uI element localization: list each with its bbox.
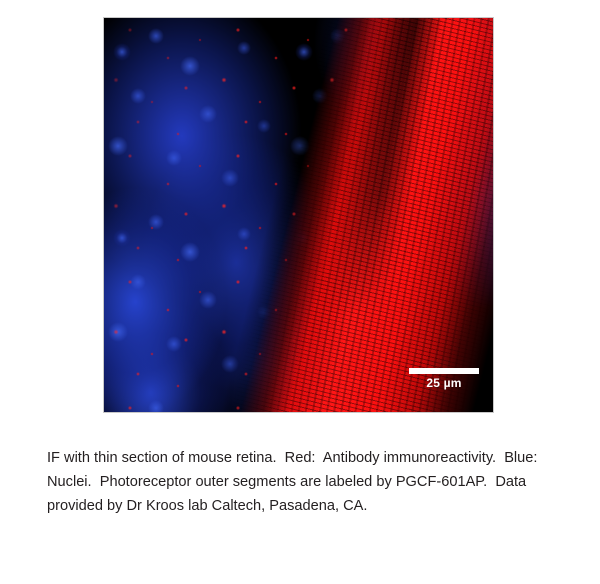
outer-segment-striation-layer-secondary bbox=[104, 18, 493, 412]
band-split-shadow-layer bbox=[104, 18, 493, 412]
figure-caption: IF with thin section of mouse retina. Re… bbox=[47, 446, 557, 518]
red-photoreceptor-band-layer bbox=[104, 18, 493, 412]
blue-nuclei-layer bbox=[104, 18, 493, 412]
vignette-layer bbox=[104, 18, 493, 412]
immunofluorescence-figure: 25 µm bbox=[103, 17, 494, 413]
scale-bar-label: 25 µm bbox=[407, 376, 481, 390]
red-puncta-layer bbox=[104, 18, 493, 412]
micrograph-image: 25 µm bbox=[103, 17, 494, 413]
scale-bar: 25 µm bbox=[407, 368, 481, 390]
outer-segment-striation-layer bbox=[104, 18, 493, 412]
blue-nuclei-speckle-layer bbox=[104, 18, 493, 412]
dark-gap-layer bbox=[104, 18, 493, 412]
scale-bar-line bbox=[409, 368, 479, 374]
